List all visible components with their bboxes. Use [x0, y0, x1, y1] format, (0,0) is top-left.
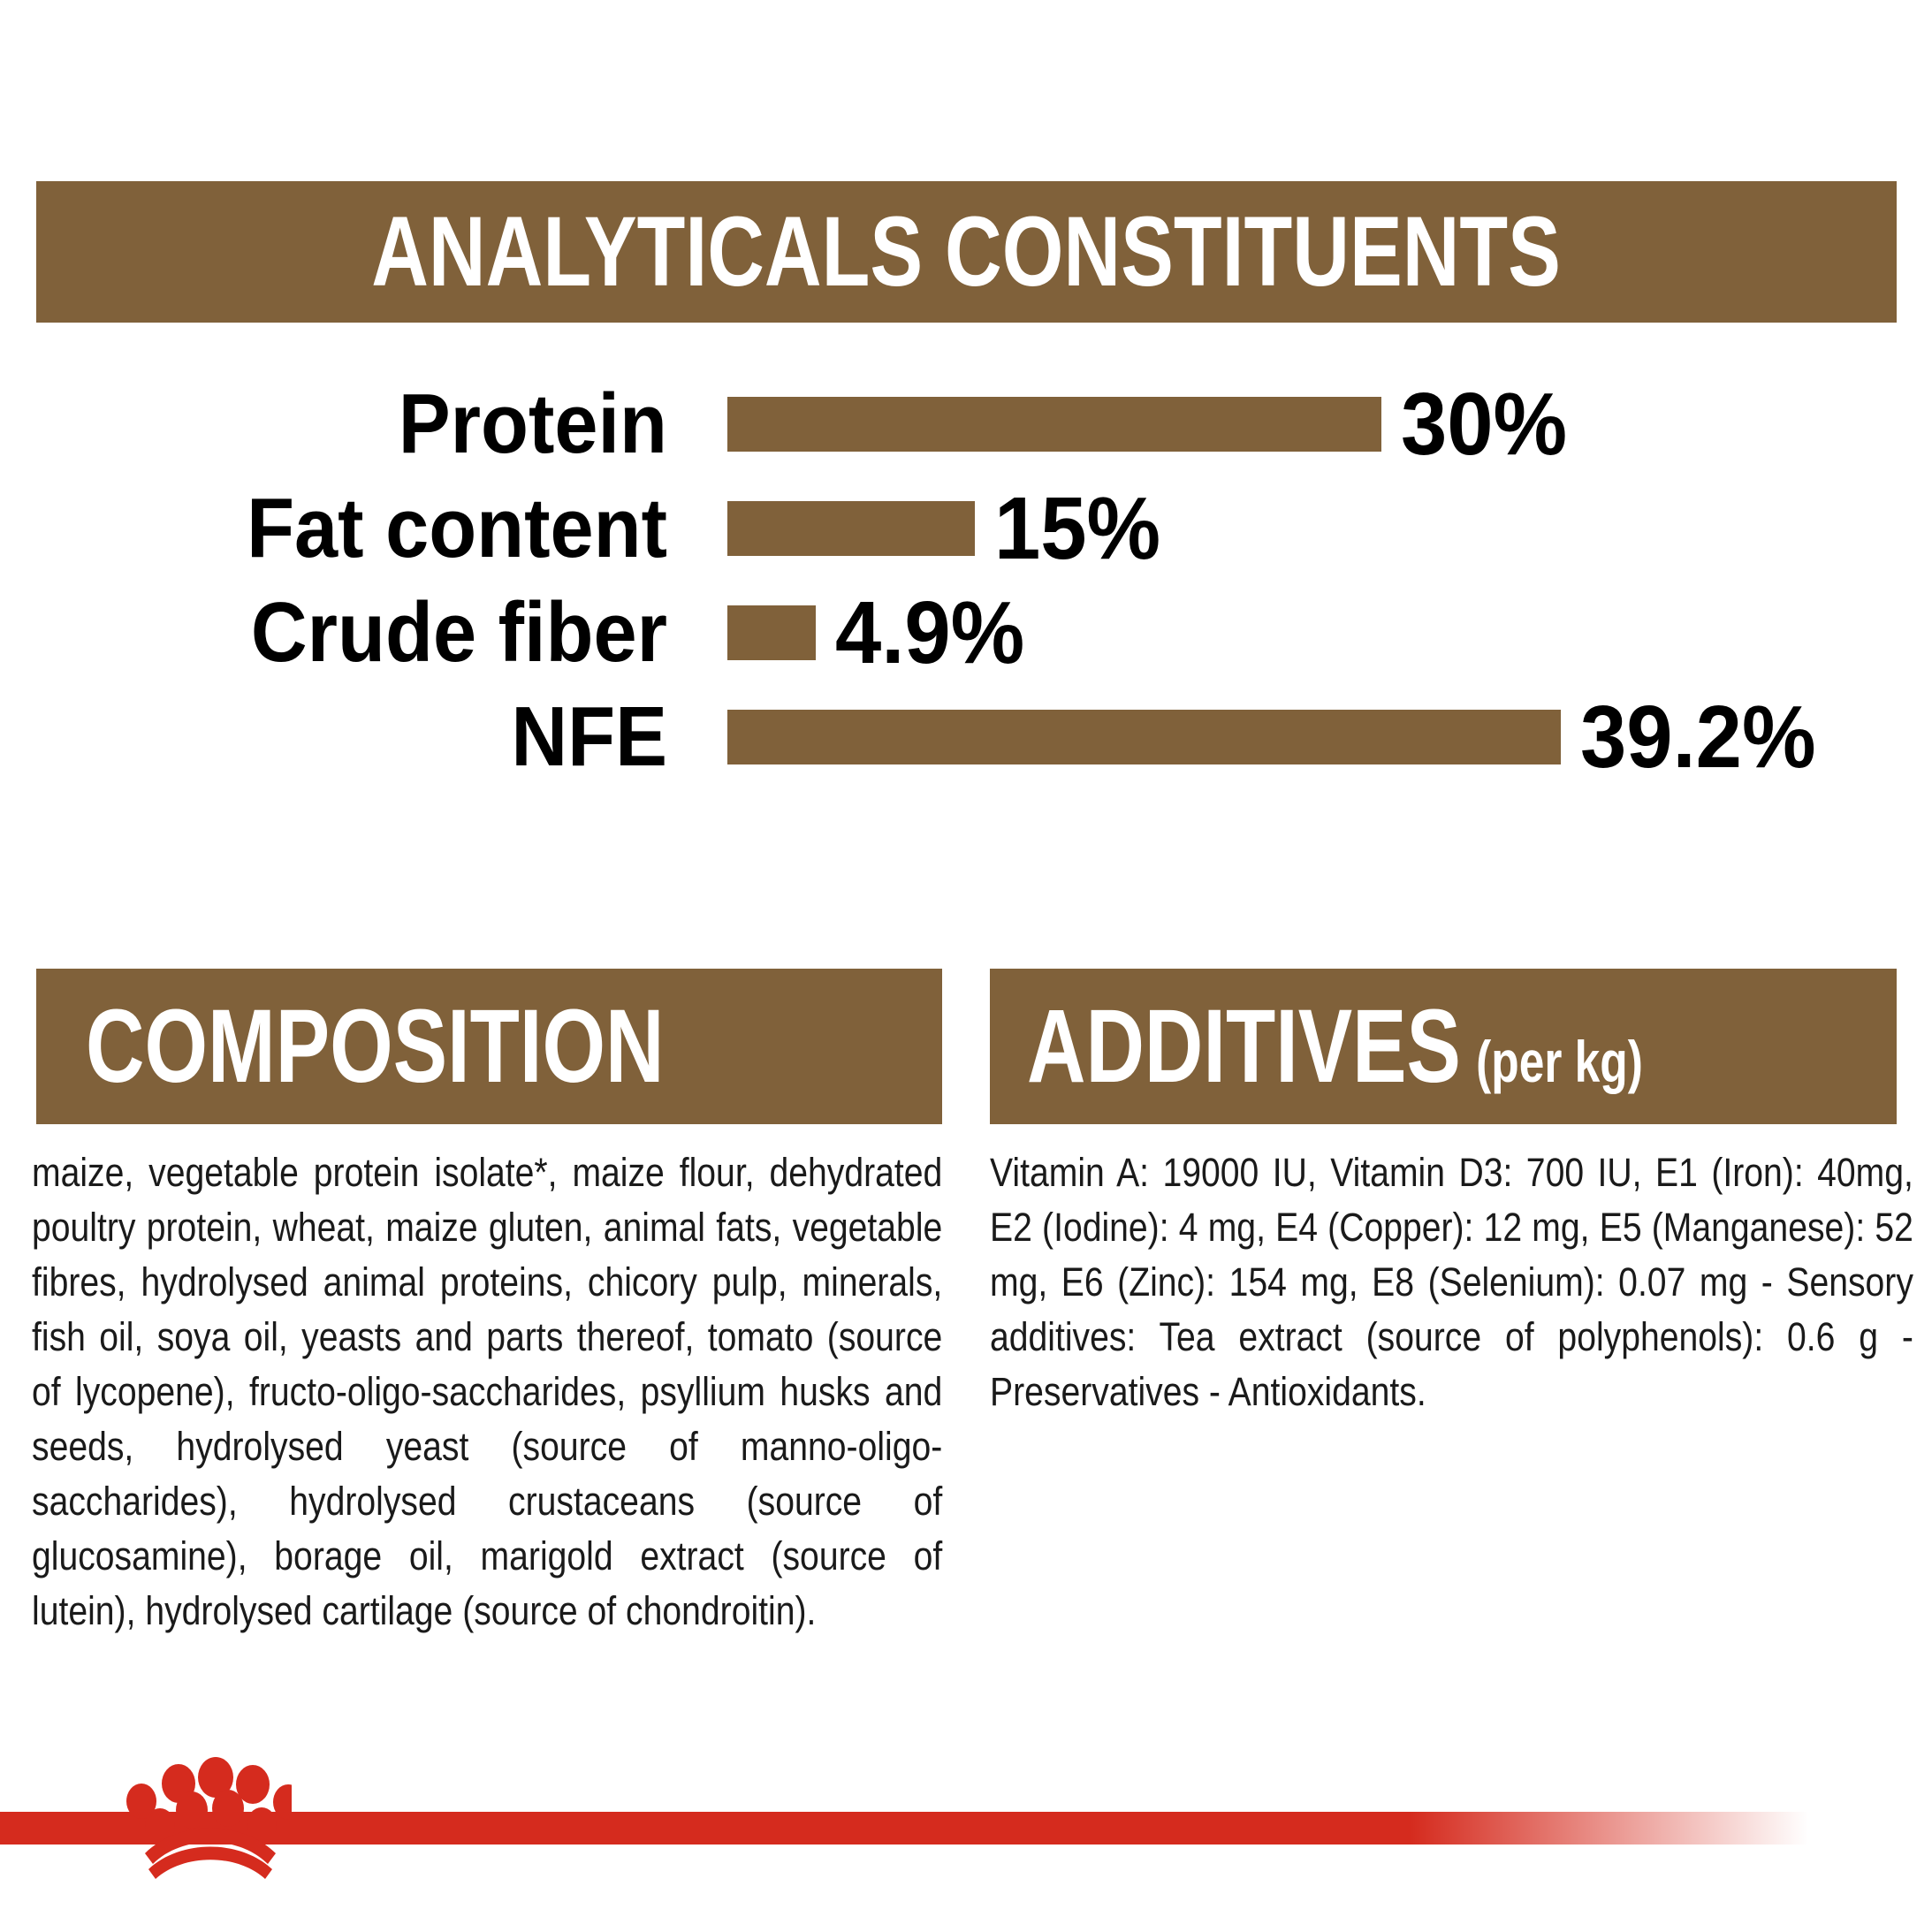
chart-bar-nfe [727, 710, 1561, 764]
chart-label-fat-content: Fat content [53, 486, 667, 571]
composition-body-text: maize, vegetable protein isolate*, maize… [32, 1145, 942, 1639]
composition-header-bar: COMPOSITION [36, 969, 942, 1124]
chart-value-fat-content: 15% [994, 484, 1160, 573]
footer [0, 1750, 1932, 1932]
chart-label-crude-fiber: Crude fiber [53, 590, 667, 675]
chart-value-crude-fiber: 4.9% [835, 589, 1024, 677]
chart-bar-wrap-nfe: 39.2% [727, 693, 1831, 781]
chart-row-protein: Protein 30% [0, 371, 1932, 477]
additives-header-title-group: ADDITIVES (per kg) [1027, 994, 1643, 1099]
analyticals-header-bar: ANALYTICALS CONSTITUENTS [36, 181, 1897, 323]
composition-header-title: COMPOSITION [86, 994, 665, 1099]
analyticals-header-title: ANALYTICALS CONSTITUENTS [372, 202, 1562, 301]
chart-bar-crude-fiber [727, 605, 816, 660]
analyticals-bar-chart: Protein 30% Fat content 15% Crude fiber … [0, 371, 1932, 866]
additives-header-title: ADDITIVES [1027, 994, 1461, 1099]
chart-bar-protein [727, 397, 1381, 452]
additives-header-subtitle: (per kg) [1476, 1032, 1643, 1091]
chart-value-nfe: 39.2% [1580, 693, 1816, 781]
chart-row-nfe: NFE 39.2% [0, 684, 1932, 790]
chart-label-nfe: NFE [53, 695, 667, 780]
royal-canin-crown-logo [124, 1751, 292, 1892]
additives-header-bar: ADDITIVES (per kg) [990, 969, 1897, 1124]
additives-body-text: Vitamin A: 19000 IU, Vitamin D3: 700 IU,… [990, 1145, 1913, 1419]
chart-row-crude-fiber: Crude fiber 4.9% [0, 580, 1932, 686]
chart-label-protein: Protein [53, 382, 667, 467]
chart-value-protein: 30% [1401, 380, 1567, 468]
chart-bar-fat-content [727, 501, 975, 556]
chart-bar-wrap-protein: 30% [727, 380, 1578, 468]
chart-bar-wrap-fat-content: 15% [727, 484, 1171, 573]
chart-bar-wrap-crude-fiber: 4.9% [727, 589, 1037, 677]
chart-row-fat-content: Fat content 15% [0, 475, 1932, 582]
